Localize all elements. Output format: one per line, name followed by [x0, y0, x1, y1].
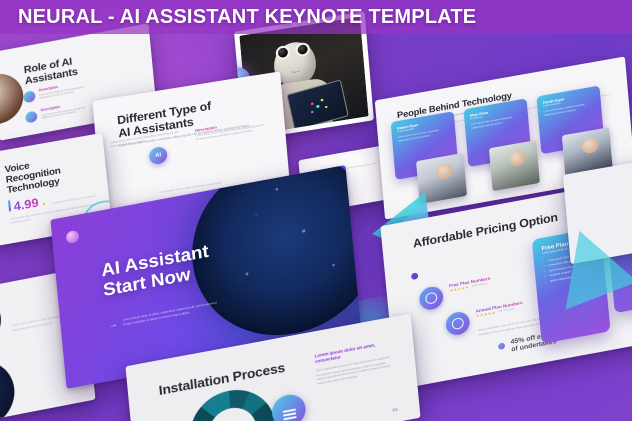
tablet-network-icon: [307, 96, 330, 116]
hero-body-text: Lorem ipsum dolor sit amet, consectetur …: [123, 300, 218, 327]
pricing-offer-bullet-icon: [498, 342, 506, 350]
installation-list-badge-icon: [271, 392, 307, 421]
team-member-photo: [416, 153, 467, 204]
role-item-2: Description Lorem ipsum dolor sit amet c…: [25, 99, 95, 124]
network-sphere-graphic: [184, 165, 362, 351]
team-member: Daniel Super Lead Developer Lorem ipsum …: [536, 85, 604, 154]
ai-badge-icon: AI: [149, 146, 168, 166]
arrow-right-icon: →: [108, 320, 118, 330]
voice-star-icon: ★: [42, 202, 47, 208]
template-preview-stage: Role of AI Assistants Description Lorem …: [0, 0, 632, 421]
pricing-row-free: Free Plan Numbers ★★★★★ (450 Reviews): [418, 276, 492, 312]
hero-logo-icon: [66, 230, 80, 244]
price-accent-bar: [8, 200, 11, 211]
role-photo-thumb: [0, 69, 26, 128]
pricing-row-annual-icon: [445, 310, 471, 337]
hero-cta-block: → Lorem ipsum dolor sit amet, consectetu…: [108, 300, 218, 330]
role-item-1-icon: [23, 90, 36, 103]
role-item-2-icon: [25, 110, 38, 123]
voice-price-value: 4.99: [13, 196, 39, 214]
slide-right-edge-sliver: [563, 156, 632, 264]
banner-title: NEURAL - AI ASSISTANT KEYNOTE TEMPLATE: [18, 6, 476, 29]
team-member: Mery Rose Art Director Lorem ipsum dolor…: [464, 98, 532, 167]
pricing-bullet-dot: [411, 272, 419, 280]
galaxy-circle-2: [0, 355, 18, 421]
team-member-photo: [489, 140, 540, 191]
installation-right-column: Lorem ipsum dolor sit amet, consectetur …: [314, 339, 396, 386]
title-banner: NEURAL - AI ASSISTANT KEYNOTE TEMPLATE: [0, 0, 632, 34]
galaxy-circle-1: [0, 290, 4, 355]
pricing-row-free-icon: [418, 285, 444, 312]
team-member: Robert Ryan Chief Executive Lorem ipsum …: [391, 111, 459, 180]
installation-page-number: 04: [392, 407, 398, 414]
